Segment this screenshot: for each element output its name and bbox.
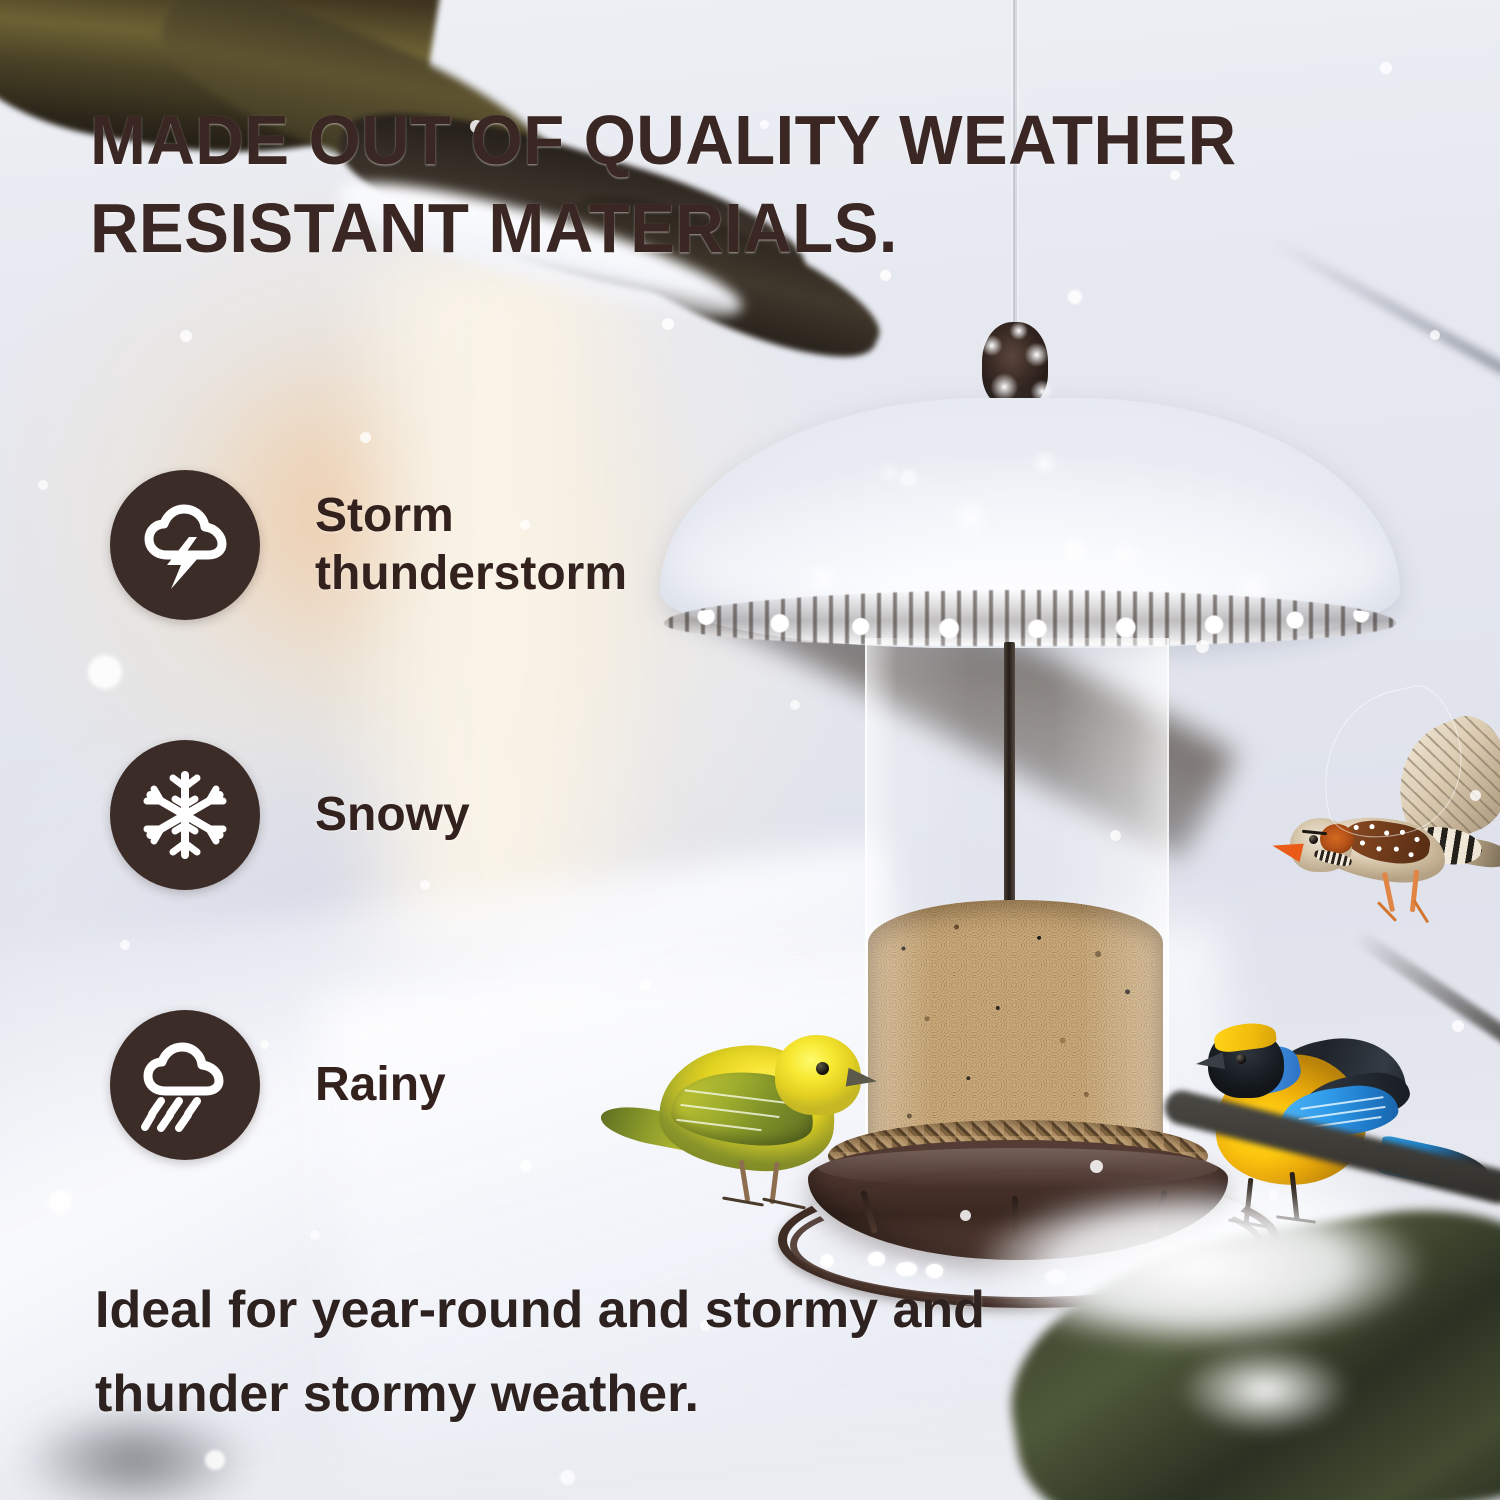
tanager-eye — [1236, 1054, 1246, 1064]
promo-banner: MADE OUT OF QUALITY WEATHER RESISTANT MA… — [0, 0, 1500, 1500]
thunderstorm-cloud-icon — [110, 470, 260, 620]
feature-list: Storm thunderstorm — [110, 470, 750, 1280]
rain-cloud-icon — [110, 1010, 260, 1160]
zebra-finch-in-flight — [1262, 690, 1500, 940]
headline: MADE OUT OF QUALITY WEATHER RESISTANT MA… — [90, 96, 1271, 272]
finch-foot — [1413, 900, 1429, 924]
snowflake-icon — [110, 740, 260, 890]
feature-item-snowy[interactable]: Snowy — [110, 740, 750, 890]
feature-item-storm-thunderstorm[interactable]: Storm thunderstorm — [110, 470, 750, 620]
perch-snow-clump — [868, 1252, 885, 1266]
finch-eye — [1309, 835, 1318, 844]
canary-eye — [816, 1062, 829, 1075]
tagline: Ideal for year-round and stormy and thun… — [95, 1268, 1115, 1436]
feature-item-rainy[interactable]: Rainy — [110, 1010, 750, 1160]
feature-label: Snowy — [315, 786, 745, 844]
branch-snow-clump — [1150, 1330, 1380, 1450]
feature-label: Storm thunderstorm — [315, 487, 745, 603]
finch-foot — [1377, 901, 1397, 922]
feature-label: Rainy — [315, 1056, 745, 1114]
hanger-cap-snow — [972, 318, 1062, 410]
